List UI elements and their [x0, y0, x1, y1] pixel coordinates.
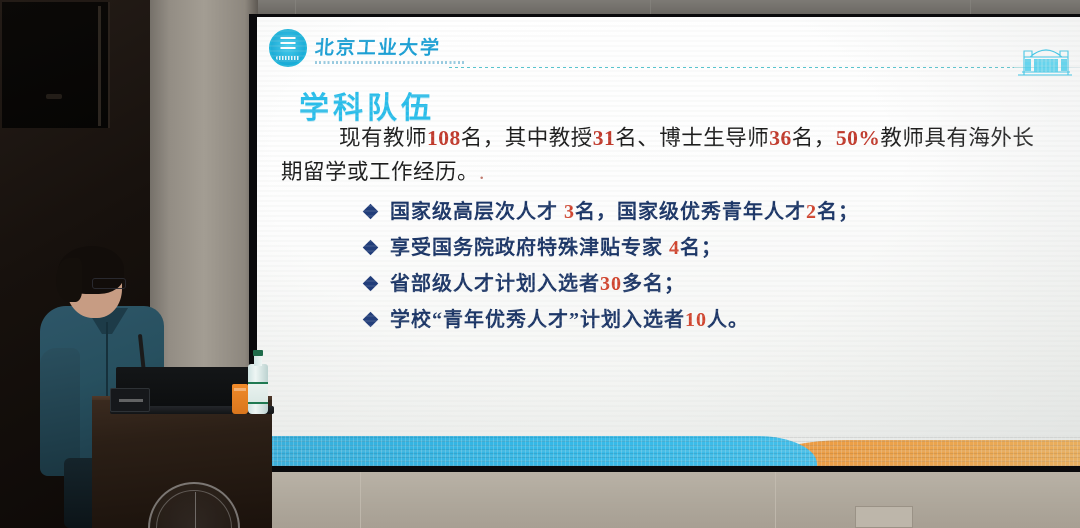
bullet-text: 学校“青年优秀人才”计划入选者10人。 — [390, 305, 749, 335]
para-seg-2: 名，其中教授 — [461, 126, 593, 150]
footer-cyan-band — [257, 436, 817, 466]
header-dotted-rule — [449, 67, 1014, 68]
para-seg-7: 50% — [836, 126, 881, 150]
bullet-text: 省部级人才计划入选者30多名； — [390, 269, 685, 299]
bjut-seal-logo-icon — [269, 29, 307, 67]
diamond-bullet-icon — [363, 276, 379, 292]
list-item: 学校“青年优秀人才”计划入选者10人。 — [365, 305, 1065, 335]
list-item: 国家级高层次人才 3名，国家级优秀青年人才2名； — [365, 197, 1065, 227]
para-seg-4: 名、博士生导师 — [615, 126, 769, 150]
orange-cup — [232, 384, 248, 414]
list-item: 享受国务院政府特殊津贴专家 4名； — [365, 233, 1065, 263]
slide-footer-bar — [257, 436, 1080, 466]
diamond-bullet-icon — [363, 204, 379, 220]
nameplate — [110, 388, 150, 412]
university-branding: 北京工业大学 — [269, 29, 465, 67]
lower-wall-panels — [255, 472, 1080, 528]
water-bottle — [248, 352, 268, 414]
para-seg-1: 108 — [427, 126, 461, 150]
diamond-bullet-icon — [363, 240, 379, 256]
slide-paragraph: 现有教师108名，其中教授31名、博士生导师36名，50%教师具有海外长期留学或… — [281, 121, 1051, 189]
bullet-text: 国家级高层次人才 3名，国家级优秀青年人才2名； — [390, 197, 859, 227]
projected-slide: 北京工业大学 学科队伍 — [257, 17, 1080, 466]
bullet-text: 享受国务院政府特殊津贴专家 4名； — [390, 233, 722, 263]
glasses-icon — [92, 278, 126, 289]
wall-outlet-panel — [855, 506, 913, 528]
presenter-arm — [40, 348, 80, 476]
para-seg-6: 名， — [792, 126, 836, 150]
campus-building-illustration-icon — [1010, 37, 1072, 79]
diamond-bullet-icon — [363, 312, 379, 328]
trailing-dot: . — [479, 160, 485, 184]
list-item: 省部级人才计划入选者30多名； — [365, 269, 1065, 299]
para-seg-0: 现有教师 — [339, 126, 427, 150]
para-seg-3: 31 — [593, 126, 616, 150]
university-name-cn: 北京工业大学 — [314, 33, 466, 60]
university-name-en-blurred — [315, 61, 465, 64]
para-seg-5: 36 — [769, 126, 792, 150]
slide-bullet-list: 国家级高层次人才 3名，国家级优秀青年人才2名； 享受国务院政府特殊津贴专家 4… — [365, 197, 1065, 341]
wall-speaker — [2, 2, 110, 128]
lecture-photo-stage: 北京工业大学 学科队伍 — [0, 0, 1080, 528]
